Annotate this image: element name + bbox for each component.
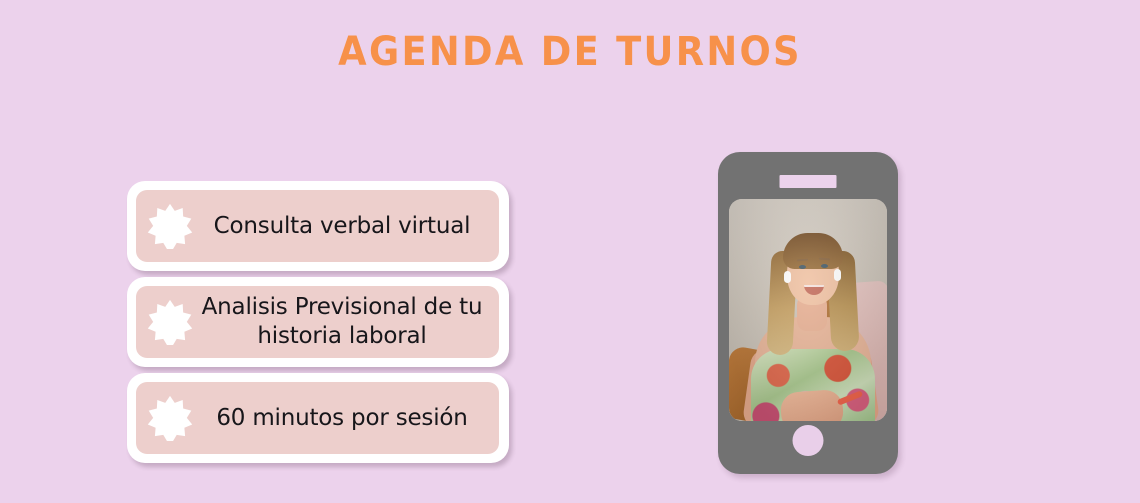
feature-card[interactable]: Analisis Previsional de tu historia labo… (127, 277, 509, 367)
photo-earbud-left (784, 271, 791, 283)
photo-eye-left (799, 265, 806, 269)
phone-speaker-grille (780, 175, 837, 188)
feature-card-label: Consulta verbal virtual (197, 212, 491, 241)
slide-canvas: AGENDA DE TURNOS Consulta verbal virtual (0, 0, 1140, 503)
starburst-icon (147, 299, 193, 345)
feature-card-label: 60 minutos por sesión (197, 404, 491, 433)
phone-home-button[interactable] (793, 425, 824, 456)
photo-eye-right (821, 264, 828, 268)
feature-card[interactable]: 60 minutos por sesión (127, 373, 509, 463)
photo-earbud-right (834, 269, 841, 281)
starburst-icon (147, 203, 193, 249)
portrait-photo (729, 199, 887, 421)
photo-clasped-hands (780, 389, 845, 421)
page-title: AGENDA DE TURNOS (46, 28, 1095, 76)
feature-card-body: 60 minutos por sesión (136, 382, 499, 454)
phone-screen (729, 199, 887, 421)
feature-card-body: Consulta verbal virtual (136, 190, 499, 262)
feature-card[interactable]: Consulta verbal virtual (127, 181, 509, 271)
starburst-icon (147, 395, 193, 441)
photo-hair-top (783, 233, 843, 269)
feature-card-body: Analisis Previsional de tu historia labo… (136, 286, 499, 358)
feature-card-label: Analisis Previsional de tu historia labo… (197, 293, 491, 351)
feature-card-list: Consulta verbal virtual Analisis Previsi… (127, 181, 509, 469)
phone-mockup (718, 152, 898, 474)
